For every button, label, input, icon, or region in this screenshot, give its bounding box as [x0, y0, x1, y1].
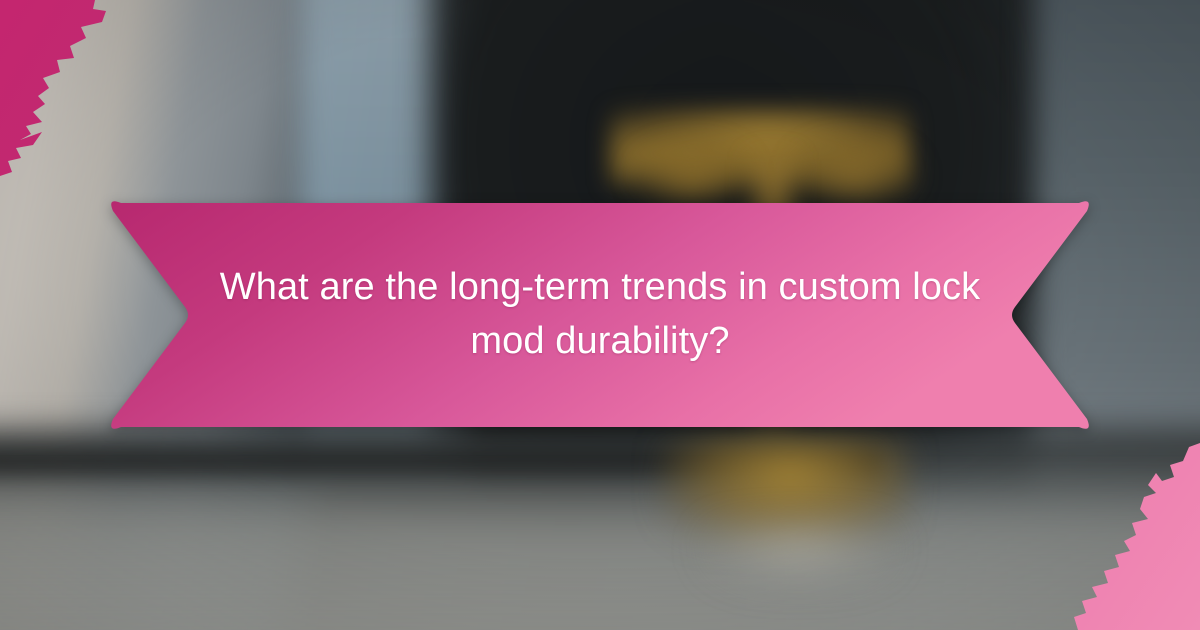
question-card: What are the long-term trends in custom … — [0, 0, 1200, 630]
banner-text-container: What are the long-term trends in custom … — [107, 197, 1093, 433]
page-title: What are the long-term trends in custom … — [205, 261, 995, 369]
